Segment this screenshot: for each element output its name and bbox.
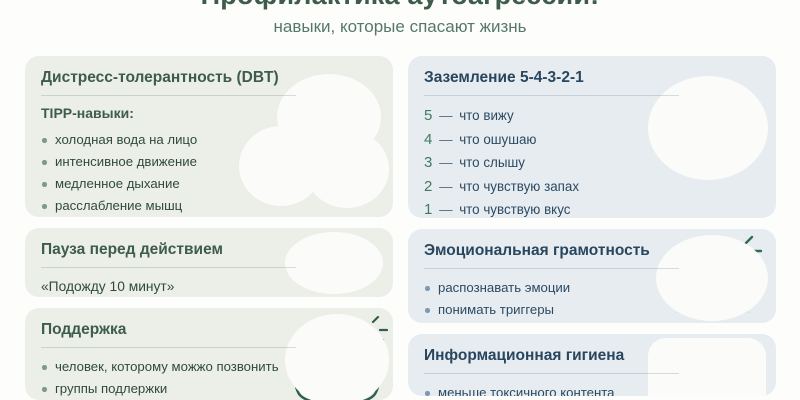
numbered-list: 5 — что вижу 4 — что ошушаю 3 — что слыш… [424,104,760,218]
card-heading: Эмоциональная грамотность [424,241,760,261]
list-item: холодная вода на лицо [41,129,377,151]
step-dash: — [439,108,452,123]
step-text: что чувствую запах [459,179,579,194]
card-quote: «Подожду 10 минут» [41,276,377,297]
step-dash: — [439,132,452,147]
list-item: медленное дыхание [41,173,377,195]
right-column: Заземление 5-4-3-2-1 5 — что вижу 4 — чт… [408,56,776,400]
step-text: что вижу [459,108,514,123]
list-item: 1 — что чувствую вкус [424,198,760,218]
bullet-list: распознавать эмоции понимать триггеры ра… [424,277,760,323]
step-text: что слышу [459,155,525,170]
divider [41,347,296,348]
list-item: распознавать эмоции [424,277,760,299]
card-heading: Поддержка [41,320,377,340]
list-item: человек, которому можжо позвонить [41,356,377,378]
list-item: расслабление мышц [41,195,377,217]
step-number: 3 [424,154,432,171]
card-subheading: TIPP-навыки: [41,104,377,123]
list-item: меньше токсичного контента [424,382,760,396]
card-heading: Дистресс-толерантность (DBT) [41,68,377,88]
list-item: группы подлержки [41,378,377,400]
step-number: 4 [424,131,432,148]
page-subtitle: навыки, которые спасают жизнь [0,15,800,39]
card-distress-tolerance: Дистресс-толерантность (DBT) TIPP-навыки… [25,56,393,217]
step-number: 1 [424,201,432,218]
list-item: 2 — что чувствую запах [424,175,760,199]
step-text: что чувствую вкус [459,202,570,217]
header: Профилактика аутоагрессии: навыки, котор… [0,0,800,39]
infographic-page: Профилактика аутоагрессии: навыки, котор… [0,0,800,400]
divider [41,95,296,96]
step-number: 2 [424,178,432,195]
list-item: интенсивное движение [41,151,377,173]
card-support: Поддержка человек, которому можжо позвон… [25,308,393,400]
step-dash: — [439,202,452,217]
card-heading: Заземление 5-4-3-2-1 [424,68,760,88]
divider [424,268,679,269]
card-heading: Пауза перед действием [41,240,377,260]
page-title: Профилактика аутоагрессии: [0,0,800,12]
list-item: разрешать себе чувствовать [424,321,760,323]
list-item: 4 — что ошушаю [424,128,760,152]
step-dash: — [439,155,452,170]
card-grounding: Заземление 5-4-3-2-1 5 — что вижу 4 — чт… [408,56,776,218]
step-number: 5 [424,107,432,124]
list-item: 5 — что вижу [424,104,760,128]
card-information-hygiene: Информационная гигиена меньше токсичного… [408,334,776,396]
left-column: Дистресс-толерантность (DBT) TIPP-навыки… [25,56,393,400]
bullet-list: человек, которому можжо позвонить группы… [41,356,377,400]
divider [424,95,679,96]
bullet-list: меньше токсичного контента [424,382,760,396]
card-emotional-literacy: Эмоциональная грамотность распознавать э… [408,229,776,323]
divider [424,373,679,374]
divider [41,267,296,268]
step-text: что ошушаю [459,132,536,147]
list-item: понимать триггеры [424,299,760,321]
card-pause-before-action: Пауза перед действием «Подожду 10 минут» [25,228,393,297]
step-dash: — [439,179,452,194]
card-heading: Информационная гигиена [424,346,760,366]
bullet-list: холодная вода на лицо интенсивное движен… [41,129,377,217]
list-item: 3 — что слышу [424,151,760,175]
